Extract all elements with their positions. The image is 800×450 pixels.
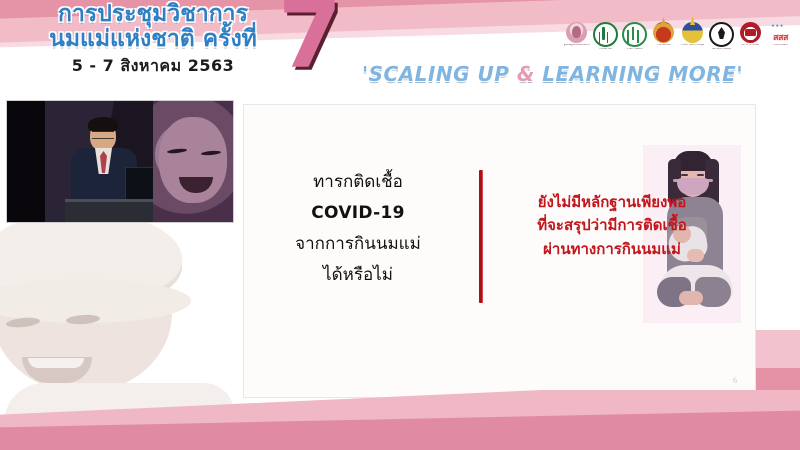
tagline-prefix: 'SCALING UP <box>362 62 517 86</box>
conference-tagline: 'SCALING UP & LEARNING MORE' <box>362 62 743 86</box>
logo-caption: กรมอนามัย <box>593 48 619 51</box>
mother-eye-left <box>681 174 688 176</box>
slide-question-text: ทารกติดเชื้อ COVID-19 จากการกินนมแม่ ได้… <box>258 167 458 291</box>
right-edge-band-light <box>756 330 800 368</box>
logo-caption: ชมรมกุมารแพทย์ <box>709 48 735 51</box>
logo-caption: กระทรวงสาธารณสุข <box>680 44 706 47</box>
conference-date: 5 - 7 สิงหาคม 2563 <box>18 54 288 79</box>
slide-page-number: 6 <box>733 376 737 385</box>
logo-caption: Thai Health <box>768 44 794 47</box>
logo-caption: สภากาชาดไทย <box>738 44 764 47</box>
department-of-health-logo: กรมการแพทย์ <box>622 22 647 52</box>
tagline-suffix: LEARNING MORE' <box>535 62 743 86</box>
question-line-3: จากการกินนมแม่ <box>258 229 458 260</box>
logo-disc <box>566 22 587 43</box>
logo-disc <box>740 22 761 43</box>
logo-disc <box>682 22 703 43</box>
speaker-hair <box>88 117 118 132</box>
conference-title-line2: นมแม่แห่งชาติ ครั้งที่ <box>18 27 288 51</box>
logo-disc <box>709 22 734 47</box>
conference-title-block: การประชุมวิชาการ นมแม่แห่งชาติ ครั้งที่ … <box>18 2 288 79</box>
presentation-slide: ทารกติดเชื้อ COVID-19 จากการกินนมแม่ ได้… <box>243 104 756 398</box>
speaker-glasses <box>92 131 114 139</box>
sponsor-logo-row: มูลนิธิศูนย์นมแม่แห่งประเทศไทย กรมอนามัย… <box>564 22 794 52</box>
thai-pediatric-society-logo: ชมรมกุมารแพทย์ <box>709 22 734 52</box>
question-line-1: ทารกติดเชื้อ <box>258 167 458 198</box>
answer-line-2: ที่จะสรุปว่ามีการติดเชื้อ <box>496 214 728 237</box>
thaihealth-dots: ••• <box>771 23 784 30</box>
mother-foot <box>679 291 703 305</box>
conference-header-banner: 7 การประชุมวิชาการ นมแม่แห่งชาติ ครั้งที… <box>0 0 800 96</box>
tagline-ampersand: & <box>517 62 535 86</box>
logo-disc <box>593 22 618 47</box>
answer-line-1: ยังไม่มีหลักฐานเพียงพอ <box>496 191 728 214</box>
answer-line-3: ผ่านทางการกินนมแม่ <box>496 238 728 261</box>
logo-caption: ราชวิทยาลัย <box>651 44 677 47</box>
logo-disc: ••• สสส <box>767 22 794 43</box>
watermark-teeth <box>28 358 84 368</box>
mother-and-child-foundation-logo: มูลนิธิศูนย์นมแม่แห่งประเทศไทย <box>564 22 589 52</box>
bottom-pink-sweep <box>0 390 800 450</box>
thaihealth-mark: สสส <box>773 34 788 43</box>
slide-answer-text: ยังไม่มีหลักฐานเพียงพอ ที่จะสรุปว่ามีการ… <box>496 191 728 261</box>
logo-caption: กรมการแพทย์ <box>622 48 648 51</box>
vertical-red-divider <box>479 170 483 303</box>
logo-disc <box>622 22 647 47</box>
thaihealth-sss-logo: ••• สสส Thai Health <box>767 22 794 52</box>
logo-disc <box>653 22 674 43</box>
ministry-of-public-health-logo: กรมอนามัย <box>593 22 618 52</box>
royal-thai-government-logo: กระทรวงสาธารณสุข <box>680 22 705 52</box>
presentation-screenshot: 7 การประชุมวิชาการ นมแม่แห่งชาติ ครั้งที… <box>0 0 800 450</box>
conference-title-line1: การประชุมวิชาการ <box>18 2 288 26</box>
baby-face-on-screen <box>153 101 233 222</box>
logo-caption: มูลนิธิศูนย์นมแม่แห่งประเทศไทย <box>564 44 590 47</box>
red-royal-crest-logo: สภากาชาดไทย <box>738 22 763 52</box>
speaker-at-podium-video[interactable] <box>6 100 234 223</box>
stage-dark-column <box>7 101 45 222</box>
question-line-4: ได้หรือไม่ <box>258 260 458 291</box>
mother-eye-right <box>697 174 704 176</box>
royal-college-emblem-logo: ราชวิทยาลัย <box>651 22 676 52</box>
question-line-2: COVID-19 <box>258 198 458 229</box>
